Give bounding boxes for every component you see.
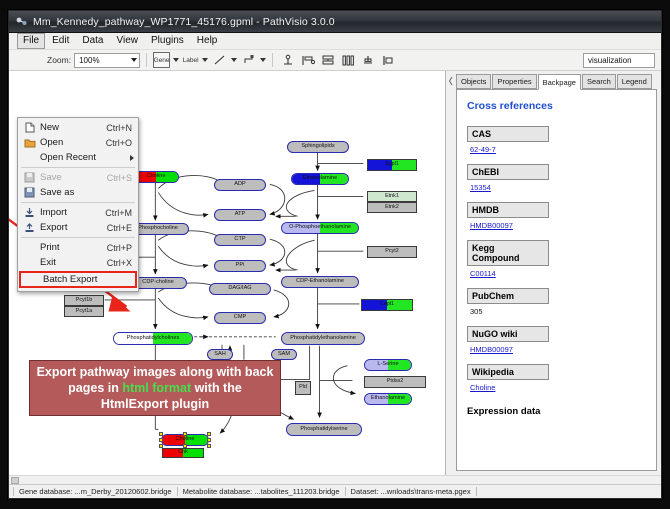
main-body: CholineADPATPPhosphocholineCTPPPiCDP-cho… <box>9 71 661 475</box>
window-title: Mm_Kennedy_pathway_WP1771_45176.gpml - P… <box>33 16 335 28</box>
tab-objects[interactable]: Objects <box>456 74 491 89</box>
selection-handle[interactable] <box>207 438 211 442</box>
zoom-label: Zoom: <box>47 55 71 65</box>
node-label: CMP <box>234 315 246 321</box>
save-disk-icon <box>22 171 37 184</box>
gene-node-sgpl1[interactable]: Sgpl1 <box>367 159 417 171</box>
file-menu-item-save-as[interactable]: Save as <box>18 185 138 200</box>
status-gene-database: Gene database: ...m_Derby_20120602.bridg… <box>13 487 178 496</box>
file-menu-item-exit[interactable]: ExitCtrl+X <box>18 255 138 270</box>
metabolite-node-adp[interactable]: ADP <box>214 179 266 191</box>
node-label: ADP <box>234 182 246 188</box>
menu-separator <box>21 202 135 203</box>
line-dropdown-icon[interactable] <box>231 58 237 62</box>
node-label: Ethanolamine <box>303 176 337 182</box>
xref-value-hmdb[interactable]: HMDB00097 <box>467 221 513 230</box>
file-menu-item-label: Exit <box>40 257 107 268</box>
xref-value-pubchem: 305 <box>467 307 483 316</box>
xref-header-wikipedia: Wikipedia <box>467 364 549 380</box>
node-label: Sphingolipids <box>301 144 334 150</box>
connector-tool-icon[interactable] <box>240 52 257 68</box>
scroll-thumb[interactable] <box>11 477 19 484</box>
gene-node-pcyt1a[interactable]: Pcyt1a <box>64 306 104 317</box>
node-label: Sgpl1 <box>385 162 399 167</box>
annotation-callout: Export pathway images along with back pa… <box>29 360 281 416</box>
metabolite-node-phosphatidylserine[interactable]: Phosphatidylserine <box>286 423 362 436</box>
align-stack-tool-icon[interactable] <box>319 52 336 68</box>
distribute-tool-icon[interactable] <box>339 52 356 68</box>
metabolite-node-ethanolamine[interactable]: Ethanolamine <box>364 393 412 405</box>
metabolite-node-cdp-ethanolamine[interactable]: CDP-Ethanolamine <box>281 276 359 288</box>
metabolite-node-dag-iag[interactable]: DAG/IAG <box>209 283 271 295</box>
no-icon <box>22 241 37 254</box>
file-menu-dropdown[interactable]: NewCtrl+NOpenCtrl+OOpen RecentSaveCtrl+S… <box>17 117 139 292</box>
file-menu-item-accelerator: Ctrl+N <box>106 123 134 133</box>
panel-tabs[interactable]: ObjectsPropertiesBackpageSearchLegend <box>446 74 661 89</box>
file-menu-item-label: Open <box>40 137 106 148</box>
node-label: Pld <box>299 385 307 390</box>
no-icon <box>22 151 37 164</box>
tab-properties[interactable]: Properties <box>492 74 536 89</box>
gene-node-chk[interactable]: Chk <box>162 448 204 458</box>
metabolite-node-l-serine[interactable]: L-Serine <box>364 359 412 371</box>
callout-line-3: HtmlExport plugin <box>101 396 209 412</box>
application-window: Mm_Kennedy_pathway_WP1771_45176.gpml - P… <box>8 10 662 499</box>
node-label: CTP <box>234 237 245 243</box>
datanode-tool-icon[interactable]: Gene <box>153 52 170 68</box>
metabolite-node-ethanolamine[interactable]: Ethanolamine <box>291 173 349 185</box>
order-tool-icon[interactable] <box>379 52 396 68</box>
callout-line2-b: with the <box>191 381 242 395</box>
callout-line-2: pages in html format with the <box>68 380 242 396</box>
divider <box>146 53 147 67</box>
pathway-canvas[interactable]: CholineADPATPPhosphocholineCTPPPiCDP-cho… <box>9 71 446 475</box>
xref-header-chebi: ChEBI <box>467 164 549 180</box>
node-label: L-Serine <box>377 362 398 368</box>
import-icon <box>22 206 37 219</box>
line-tool-icon[interactable] <box>211 52 228 68</box>
node-label: Ptdss2 <box>387 379 403 384</box>
node-label: Choline <box>176 437 195 443</box>
status-metabolite-database: Metabolite database: ...tabolites_111203… <box>178 487 346 496</box>
status-bar: Gene database: ...m_Derby_20120602.bridg… <box>9 484 661 498</box>
group-tool-icon[interactable] <box>359 52 376 68</box>
new-file-icon <box>22 121 37 134</box>
callout-highlight: html format <box>122 381 191 395</box>
selection-handle[interactable] <box>183 432 187 436</box>
chevron-right-icon <box>130 155 134 161</box>
file-menu-item-label: Export <box>40 222 107 233</box>
node-label: Etnk1 <box>385 194 399 199</box>
anchor-tool-icon[interactable] <box>279 52 296 68</box>
xref-header-cas: CAS <box>467 126 549 142</box>
tab-legend[interactable]: Legend <box>617 74 652 89</box>
callout-line2-a: pages in <box>68 381 122 395</box>
cross-references-heading: Cross references <box>467 100 646 112</box>
node-label: Ethanolamine <box>371 396 405 402</box>
metabolite-node-ppi[interactable]: PPi <box>214 260 266 272</box>
file-menu-item-accelerator: Ctrl+O <box>106 138 134 148</box>
selection-handle[interactable] <box>159 444 163 448</box>
node-label: DAG/IAG <box>228 286 251 292</box>
visualization-value: visualization <box>588 56 632 65</box>
node-label: Etnk2 <box>385 205 399 210</box>
file-menu-item-open-recent[interactable]: Open Recent <box>18 150 138 165</box>
menu-bar[interactable]: File Edit Data View Plugins Help <box>9 33 661 50</box>
menu-edit[interactable]: Edit <box>46 33 75 49</box>
cross-reference-list: CAS62-49-7ChEBI15354HMDBHMDB00097Kegg Co… <box>467 126 646 402</box>
visualization-combo[interactable]: visualization <box>583 53 655 68</box>
menu-view[interactable]: View <box>110 33 144 49</box>
file-menu-item-accelerator: Ctrl+S <box>107 173 134 183</box>
side-panel: ObjectsPropertiesBackpageSearchLegend Cr… <box>446 71 661 475</box>
xref-header-nugo-wiki: NuGO wiki <box>467 326 549 342</box>
gene-node-pld[interactable]: Pld <box>295 381 311 395</box>
file-menu-item-label: Save as <box>40 187 132 198</box>
metabolite-node-atp[interactable]: ATP <box>214 209 266 221</box>
datanode-dropdown-icon[interactable] <box>173 58 179 62</box>
file-menu-item-print[interactable]: PrintCtrl+P <box>18 240 138 255</box>
file-menu-item-label: Open Recent <box>40 152 128 163</box>
tab-search[interactable]: Search <box>582 74 616 89</box>
label-tool-icon[interactable]: Label <box>182 52 199 68</box>
metabolite-node-sam[interactable]: SAM <box>271 349 297 360</box>
menu-help[interactable]: Help <box>191 33 224 49</box>
divider <box>272 53 273 67</box>
metabolite-node-cmp[interactable]: CMP <box>214 312 266 324</box>
xref-value-chebi[interactable]: 15354 <box>467 183 491 192</box>
file-menu-item-label: Import <box>40 207 105 218</box>
menu-separator <box>21 237 135 238</box>
gene-node-pcyt1b[interactable]: Pcyt1b <box>64 295 104 306</box>
selection-handle[interactable] <box>207 432 211 436</box>
file-menu-item-label: Save <box>40 172 107 183</box>
node-label: O-Phosphoethanolamine <box>289 225 351 231</box>
xref-value-nugo-wiki[interactable]: HMDB00097 <box>467 345 513 354</box>
file-menu-item-label: Batch Export <box>43 274 129 285</box>
open-folder-icon <box>22 136 37 149</box>
node-label: Phosphatidylethanolamine <box>290 336 356 342</box>
metabolite-node-o-phosphoethanolamine[interactable]: O-Phosphoethanolamine <box>281 222 359 234</box>
metabolite-node-sah[interactable]: SAH <box>207 349 233 360</box>
file-menu-item-accelerator: Ctrl+P <box>107 243 134 253</box>
file-menu-item-save: SaveCtrl+S <box>18 170 138 185</box>
zoom-value: 100% <box>79 54 99 67</box>
tab-backpage[interactable]: Backpage <box>538 74 581 90</box>
xref-value-cas[interactable]: 62-49-7 <box>467 145 496 154</box>
node-label: ATP <box>235 212 245 218</box>
xref-value-kegg-compound[interactable]: C00114 <box>467 269 496 278</box>
file-menu-item-accelerator: Ctrl+M <box>105 208 134 218</box>
file-menu-item-label: Print <box>40 242 107 253</box>
selection-handle[interactable] <box>159 438 163 442</box>
file-menu-item-batch-export[interactable]: Batch Export <box>19 271 137 288</box>
node-label: Cept1 <box>380 302 394 307</box>
xref-header-kegg-compound: Kegg Compound <box>467 240 549 266</box>
menu-data[interactable]: Data <box>76 33 109 49</box>
node-label: Phosphatidylcholines <box>127 336 180 342</box>
node-label: Phosphatidylserine <box>300 427 347 433</box>
metabolite-node-ctp[interactable]: CTP <box>214 234 266 246</box>
selection-handle[interactable] <box>207 444 211 448</box>
gene-node-etnk1[interactable]: Etnk1 <box>367 191 417 202</box>
xref-value-wikipedia[interactable]: Choline <box>467 383 495 392</box>
zoom-combo[interactable]: 100% <box>74 53 140 68</box>
gene-node-ptdss2[interactable]: Ptdss2 <box>364 376 426 388</box>
file-menu-item-accelerator: Ctrl+X <box>107 258 134 268</box>
node-label: Pcyt2 <box>385 249 398 254</box>
label-dropdown-icon[interactable] <box>202 58 208 62</box>
node-label: SAH <box>214 352 226 358</box>
callout-line-1: Export pathway images along with back <box>37 364 274 380</box>
pathvisio-icon <box>15 15 28 28</box>
file-menu-item-export[interactable]: ExportCtrl+E <box>18 220 138 235</box>
status-dataset: Dataset: ...wnloads\trans-meta.pgex <box>346 487 477 496</box>
file-menu-item-import[interactable]: ImportCtrl+M <box>18 205 138 220</box>
xref-header-hmdb: HMDB <box>467 202 549 218</box>
file-menu-item-accelerator: Ctrl+E <box>107 223 134 233</box>
menu-separator <box>21 167 135 168</box>
export-icon <box>22 221 37 234</box>
metabolite-node-phosphatidylethanolamine[interactable]: Phosphatidylethanolamine <box>281 332 365 345</box>
gene-node-cept1[interactable]: Cept1 <box>361 299 413 311</box>
gene-node-pcyt2[interactable]: Pcyt2 <box>367 246 417 258</box>
node-label: CDP-Ethanolamine <box>296 279 344 285</box>
selection-handle[interactable] <box>159 432 163 436</box>
file-menu-item-open[interactable]: OpenCtrl+O <box>18 135 138 150</box>
menu-file[interactable]: File <box>17 33 45 49</box>
metabolite-node-sphingolipids[interactable]: Sphingolipids <box>287 141 349 153</box>
expression-data-heading: Expression data <box>467 406 646 417</box>
tool-bar[interactable]: Zoom: 100% Gene Label <box>9 50 661 71</box>
metabolite-node-phosphatidylcholines[interactable]: Phosphatidylcholines <box>113 332 193 345</box>
chevron-down-icon <box>131 58 137 62</box>
menu-plugins[interactable]: Plugins <box>145 33 190 49</box>
no-icon <box>25 273 40 286</box>
node-label: Choline <box>147 174 166 180</box>
align-left-tool-icon[interactable] <box>299 52 316 68</box>
backpage-content[interactable]: Cross references CAS62-49-7ChEBI15354HMD… <box>456 89 657 471</box>
no-icon <box>22 256 37 269</box>
title-bar: Mm_Kennedy_pathway_WP1771_45176.gpml - P… <box>9 11 661 33</box>
save-as-icon <box>22 186 37 199</box>
file-menu-item-new[interactable]: NewCtrl+N <box>18 120 138 135</box>
node-label: Chk <box>178 450 188 455</box>
horizontal-scrollbar[interactable] <box>9 475 661 484</box>
screenshot-root: Mm_Kennedy_pathway_WP1771_45176.gpml - P… <box>0 0 670 509</box>
xref-header-pubchem: PubChem <box>467 288 549 304</box>
file-menu-item-label: New <box>40 122 106 133</box>
connector-dropdown-icon[interactable] <box>260 58 266 62</box>
node-label: CDP-choline <box>142 280 173 286</box>
panel-scroll-handle[interactable] <box>448 74 454 86</box>
node-label: Pcyt1b <box>76 298 92 303</box>
node-label: Phosphocholine <box>138 226 178 232</box>
gene-node-etnk2[interactable]: Etnk2 <box>367 202 417 213</box>
node-label: Pcyt1a <box>76 309 92 314</box>
metabolite-node-choline[interactable]: Choline <box>133 171 179 183</box>
node-label: SAM <box>278 352 290 358</box>
node-label: PPi <box>236 263 245 269</box>
selection-handle[interactable] <box>183 444 187 448</box>
